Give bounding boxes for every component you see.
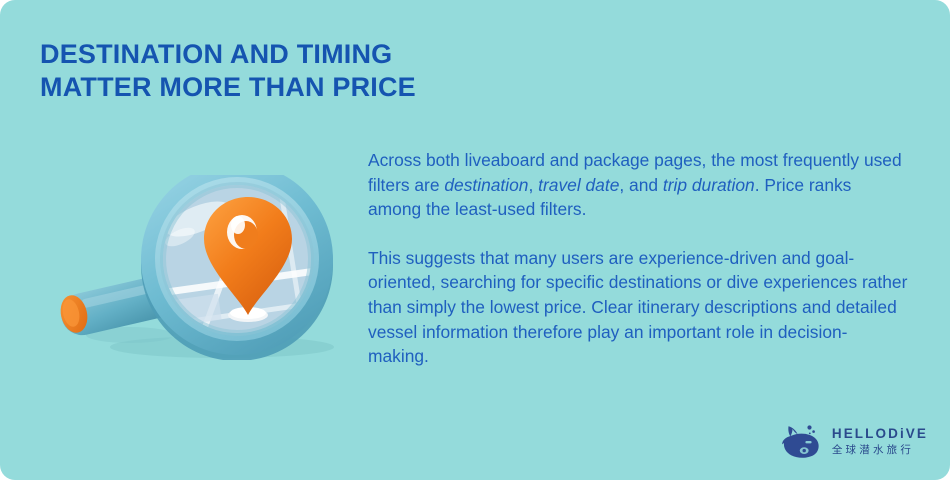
emphasis-travel-date: travel date (538, 175, 619, 195)
text-segment: , and (619, 175, 663, 195)
promo-card: DESTINATION AND TIMING MATTER MORE THAN … (0, 0, 950, 480)
page-title: DESTINATION AND TIMING MATTER MORE THAN … (40, 38, 600, 104)
body-copy: Across both liveaboard and package pages… (368, 148, 908, 369)
magnifying-glass-illustration (52, 175, 340, 360)
text-segment: , (528, 175, 538, 195)
emphasis-destination: destination (444, 175, 528, 195)
paragraph-2: This suggests that many users are experi… (368, 246, 908, 369)
brand-name: HELLODiVE (832, 427, 928, 441)
paragraph-1: Across both liveaboard and package pages… (368, 148, 908, 222)
logo-wordmark: HELLODiVE 全球潜水旅行 (832, 427, 928, 455)
whale-icon (779, 420, 823, 462)
brand-logo: HELLODiVE 全球潜水旅行 (779, 420, 928, 462)
emphasis-trip-duration: trip duration (663, 175, 755, 195)
text-segment: This suggests that many users are experi… (368, 248, 907, 366)
brand-name-cn: 全球潜水旅行 (832, 445, 928, 456)
